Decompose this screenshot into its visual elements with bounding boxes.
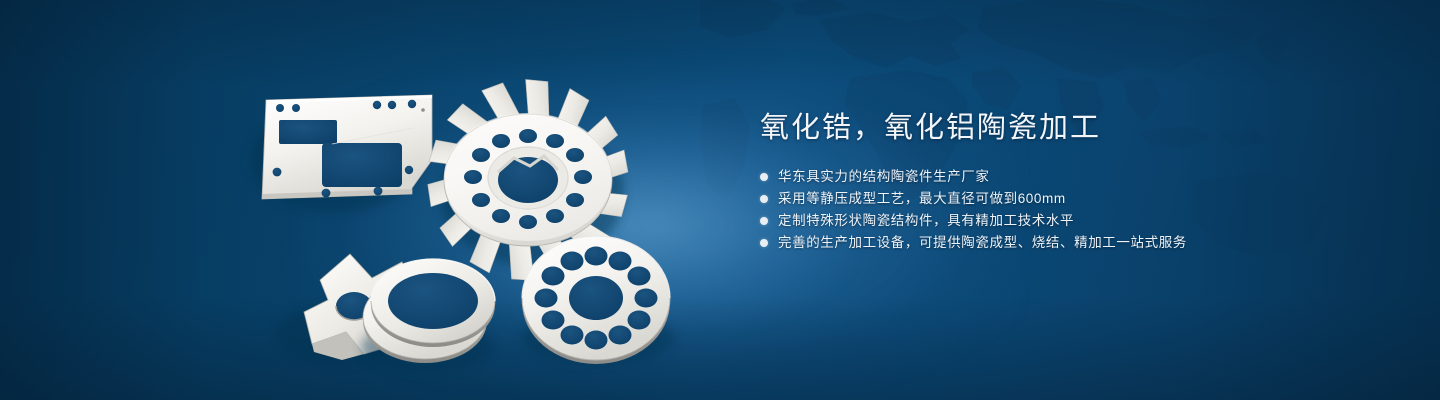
list-item: 华东具实力的结构陶瓷件生产厂家	[760, 166, 1400, 188]
ceramic-products-hero-banner: 氧化锆，氧化铝陶瓷加工 华东具实力的结构陶瓷件生产厂家 采用等静压成型工艺，最大…	[0, 0, 1440, 400]
bullet-dot-icon	[760, 173, 768, 181]
list-item-label: 完善的生产加工设备，可提供陶瓷成型、烧结、精加工一站式服务	[778, 232, 1187, 254]
list-item-label: 采用等静压成型工艺，最大直径可做到600mm	[778, 188, 1066, 210]
ceramic-product-photo-group	[236, 48, 716, 378]
bullet-dot-icon	[760, 195, 768, 203]
ceramic-plate-part	[250, 95, 432, 212]
banner-copy: 氧化锆，氧化铝陶瓷加工 华东具实力的结构陶瓷件生产厂家 采用等静压成型工艺，最大…	[760, 108, 1400, 254]
list-item: 定制特殊形状陶瓷结构件，具有精加工技术水平	[760, 210, 1400, 232]
list-item: 完善的生产加工设备，可提供陶瓷成型、烧结、精加工一站式服务	[760, 232, 1400, 254]
bullet-dot-icon	[760, 239, 768, 247]
list-item-label: 定制特殊形状陶瓷结构件，具有精加工技术水平	[778, 210, 1074, 232]
bullet-dot-icon	[760, 217, 768, 225]
ceramic-perforated-disc-part	[522, 236, 674, 364]
list-item: 采用等静压成型工艺，最大直径可做到600mm	[760, 188, 1400, 210]
page-title: 氧化锆，氧化铝陶瓷加工	[760, 108, 1400, 148]
list-item-label: 华东具实力的结构陶瓷件生产厂家	[778, 166, 990, 188]
feature-list: 华东具实力的结构陶瓷件生产厂家 采用等静压成型工艺，最大直径可做到600mm 定…	[760, 166, 1400, 254]
